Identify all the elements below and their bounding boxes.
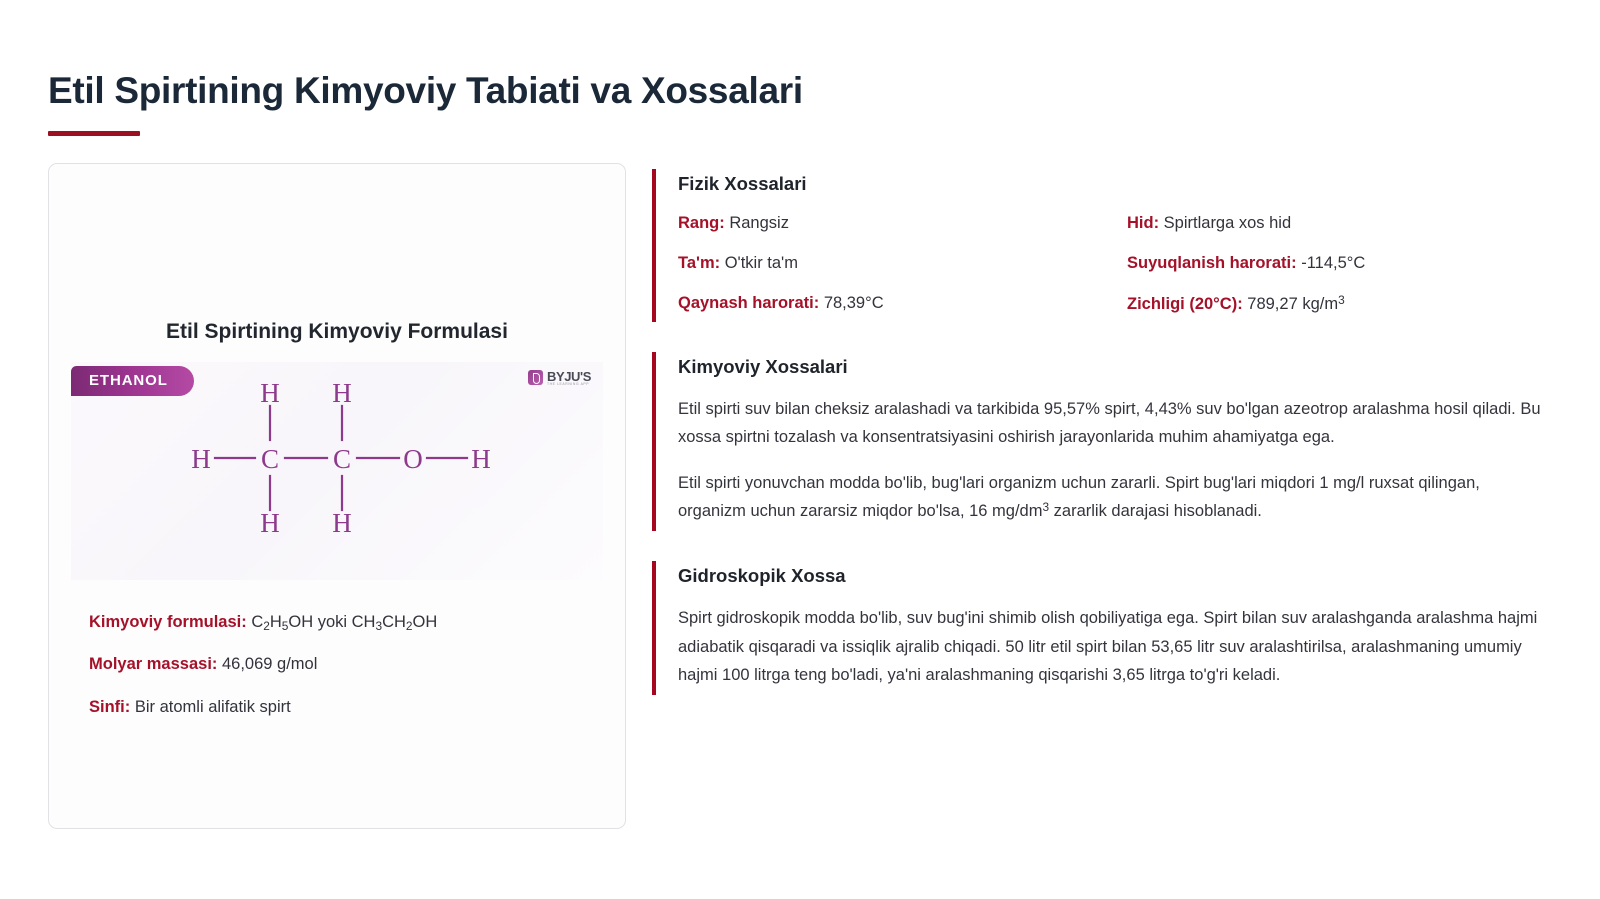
formula-properties-list: Kimyoviy formulasi: C2H5OH yoki CH3CH2OH…: [71, 610, 603, 721]
svg-text:H: H: [332, 508, 352, 538]
paragraph: Spirt gidroskopik modda bo'lib, suv bug'…: [678, 604, 1552, 689]
ethanol-badge: ETHANOL: [71, 366, 194, 396]
byjus-mark-icon: [528, 370, 543, 385]
svg-text:H: H: [471, 444, 491, 474]
property-molar-mass: Molyar massasi: 46,069 g/mol: [89, 652, 603, 678]
property-label: Zichligi (20°C):: [1127, 295, 1243, 313]
property-chemical-formula: Kimyoviy formulasi: C2H5OH yoki CH3CH2OH: [89, 610, 603, 636]
physical-property-melting-point: Suyuqlanish harorati: -114,5°C: [1127, 252, 1552, 275]
title-underline-accent: [48, 131, 140, 136]
property-value: 789,27 kg/m3: [1247, 295, 1344, 313]
property-label: Suyuqlanish harorati:: [1127, 254, 1297, 272]
property-value: O'tkir ta'm: [725, 254, 798, 272]
property-label: Molyar massasi:: [89, 655, 217, 673]
physical-property-taste: Ta'm: O'tkir ta'm: [678, 252, 1103, 275]
property-value: Rangsiz: [729, 214, 789, 232]
main-content: Etil Spirtining Kimyoviy Formulasi ETHAN…: [48, 163, 1552, 829]
svg-text:O: O: [403, 444, 423, 474]
formula-card-title: Etil Spirtining Kimyoviy Formulasi: [71, 320, 603, 344]
property-label: Qaynash harorati:: [678, 294, 819, 312]
physical-properties-grid: Rang: Rangsiz Hid: Spirtlarga xos hid Ta…: [678, 212, 1552, 316]
section-chemical-properties: Kimyoviy Xossalari Etil spirti suv bilan…: [652, 352, 1552, 532]
paragraph: Etil spirti suv bilan cheksiz aralashadi…: [678, 395, 1552, 452]
property-label: Kimyoviy formulasi:: [89, 613, 247, 631]
formula-card: Etil Spirtining Kimyoviy Formulasi ETHAN…: [48, 163, 626, 829]
physical-property-color: Rang: Rangsiz: [678, 212, 1103, 235]
physical-property-odor: Hid: Spirtlarga xos hid: [1127, 212, 1552, 235]
section-heading: Fizik Xossalari: [678, 173, 1552, 195]
property-label: Sinfi:: [89, 698, 130, 716]
page-root: Etil Spirtining Kimyoviy Tabiati va Xoss…: [0, 0, 1600, 899]
byjus-wordmark: BYJU'S THE LEARNING APP: [547, 370, 591, 386]
svg-text:C: C: [333, 444, 351, 474]
property-value: Bir atomli alifatik spirt: [135, 698, 291, 716]
byjus-logo: BYJU'S THE LEARNING APP: [528, 370, 591, 386]
property-value: -114,5°C: [1301, 254, 1365, 272]
property-value: 46,069 g/mol: [222, 655, 317, 673]
section-heading: Gidroskopik Xossa: [678, 565, 1552, 587]
section-hygroscopic-property: Gidroskopik Xossa Spirt gidroskopik modd…: [652, 561, 1552, 695]
physical-property-boiling-point: Qaynash harorati: 78,39°C: [678, 292, 1103, 316]
molecule-image: ETHANOL BYJU'S THE LEARNING APP: [71, 362, 603, 580]
property-value: C2H5OH yoki CH3CH2OH: [251, 613, 437, 631]
paragraph: Etil spirti yonuvchan modda bo'lib, bug'…: [678, 469, 1552, 526]
svg-text:H: H: [191, 444, 211, 474]
property-class: Sinfi: Bir atomli alifatik spirt: [89, 695, 603, 721]
property-label: Ta'm:: [678, 254, 720, 272]
byjus-tagline: THE LEARNING APP: [547, 383, 591, 386]
svg-text:C: C: [261, 444, 279, 474]
svg-text:H: H: [260, 508, 280, 538]
property-value: Spirtlarga xos hid: [1164, 214, 1291, 232]
property-label: Hid:: [1127, 214, 1159, 232]
sections-column: Fizik Xossalari Rang: Rangsiz Hid: Spirt…: [652, 163, 1552, 696]
section-physical-properties: Fizik Xossalari Rang: Rangsiz Hid: Spirt…: [652, 169, 1552, 322]
property-value: 78,39°C: [824, 294, 884, 312]
svg-text:H: H: [260, 378, 280, 408]
svg-text:H: H: [332, 378, 352, 408]
section-heading: Kimyoviy Xossalari: [678, 356, 1552, 378]
property-label: Rang:: [678, 214, 725, 232]
physical-property-density: Zichligi (20°C): 789,27 kg/m3: [1127, 292, 1552, 316]
ethanol-structure-svg: H C C O H H H H H: [177, 378, 497, 538]
page-title: Etil Spirtining Kimyoviy Tabiati va Xoss…: [48, 70, 1552, 113]
